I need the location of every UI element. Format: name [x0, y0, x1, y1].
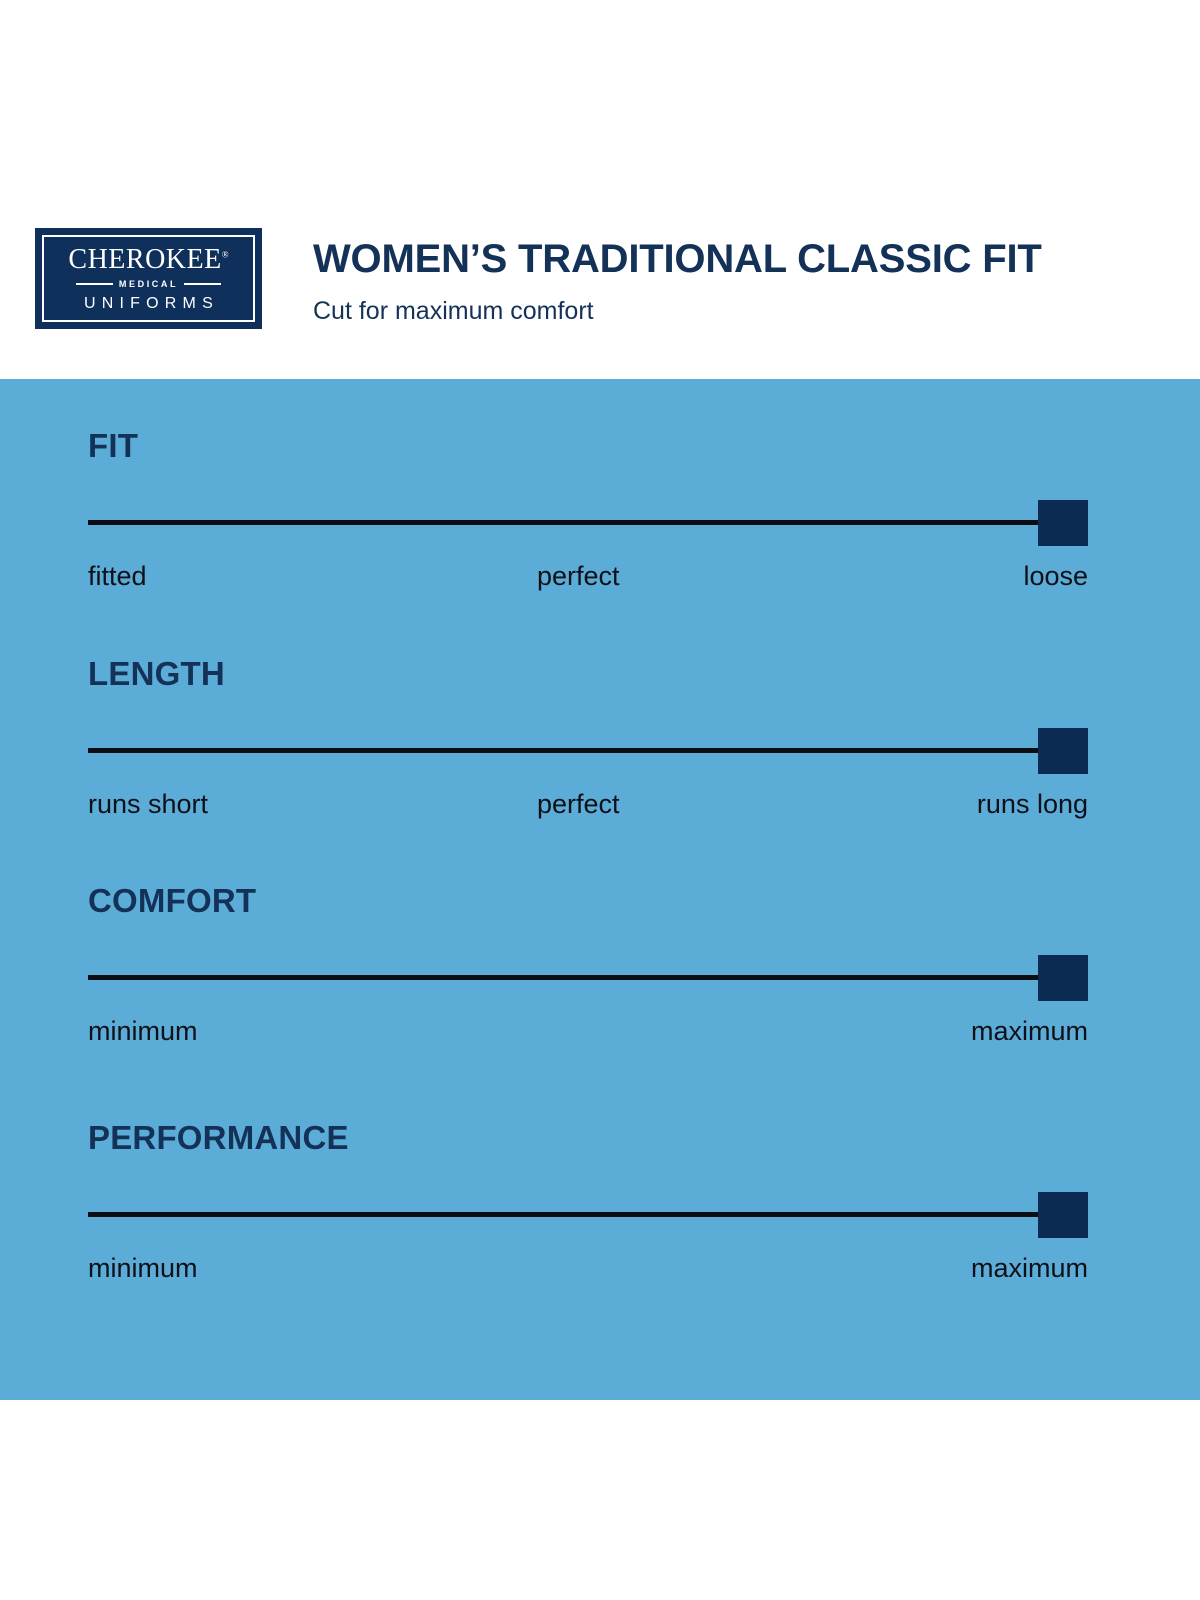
logo-brand-name: CHEROKEE® — [68, 246, 228, 274]
track-line-performance — [88, 1212, 1044, 1217]
scale-label-left-fit: fitted — [88, 558, 147, 594]
logo-medical-text: MEDICAL — [119, 279, 178, 289]
scale-performance: PERFORMANCE minimum maximum — [88, 1121, 1088, 1290]
fit-guide-page: CHEROKEE® MEDICAL UNIFORMS WOMEN’S TRADI… — [0, 0, 1200, 1600]
slider-marker-fit[interactable] — [1038, 500, 1088, 546]
scale-title-comfort: COMFORT — [88, 884, 1088, 917]
slider-marker-comfort[interactable] — [1038, 955, 1088, 1001]
scale-label-right-length: runs long — [977, 786, 1088, 822]
logo-uniforms-text: UNIFORMS — [78, 295, 219, 313]
scale-labels-fit: fitted perfect loose — [88, 558, 1088, 598]
slider-marker-length[interactable] — [1038, 728, 1088, 774]
scale-title-performance: PERFORMANCE — [88, 1121, 1088, 1154]
slider-track-length[interactable] — [88, 728, 1088, 774]
slider-track-performance[interactable] — [88, 1192, 1088, 1238]
logo-inner-frame: CHEROKEE® MEDICAL UNIFORMS — [42, 235, 255, 322]
scale-title-length: LENGTH — [88, 657, 1088, 690]
scales-panel: FIT fitted perfect loose LENGTH runs sho… — [0, 379, 1200, 1400]
scale-labels-length: runs short perfect runs long — [88, 786, 1088, 826]
logo-brand-word: CHEROKEE — [68, 244, 221, 275]
scale-label-left-comfort: minimum — [88, 1013, 198, 1049]
scale-label-mid-fit: perfect — [537, 558, 620, 594]
scale-labels-performance: minimum maximum — [88, 1250, 1088, 1290]
scale-label-right-performance: maximum — [971, 1250, 1088, 1286]
scale-label-right-fit: loose — [1023, 558, 1088, 594]
scale-label-right-comfort: maximum — [971, 1013, 1088, 1049]
scale-label-left-length: runs short — [88, 786, 208, 822]
registered-mark-icon: ® — [222, 250, 229, 260]
scale-fit: FIT fitted perfect loose — [88, 429, 1088, 598]
scale-label-mid-length: perfect — [537, 786, 620, 822]
track-line-comfort — [88, 975, 1044, 980]
scale-title-fit: FIT — [88, 429, 1088, 462]
logo-rule-right-icon — [184, 283, 221, 285]
logo-rule-left-icon — [76, 283, 113, 285]
slider-track-fit[interactable] — [88, 500, 1088, 546]
header: CHEROKEE® MEDICAL UNIFORMS WOMEN’S TRADI… — [0, 0, 1200, 379]
logo-medical-row: MEDICAL — [76, 279, 221, 289]
cherokee-logo: CHEROKEE® MEDICAL UNIFORMS — [35, 228, 262, 329]
scale-labels-comfort: minimum maximum — [88, 1013, 1088, 1053]
scale-label-left-performance: minimum — [88, 1250, 198, 1286]
page-title: WOMEN’S TRADITIONAL CLASSIC FIT — [313, 238, 1042, 280]
scale-comfort: COMFORT minimum maximum — [88, 884, 1088, 1053]
slider-marker-performance[interactable] — [1038, 1192, 1088, 1238]
track-line-length — [88, 748, 1044, 753]
slider-track-comfort[interactable] — [88, 955, 1088, 1001]
scale-length: LENGTH runs short perfect runs long — [88, 657, 1088, 826]
track-line-fit — [88, 520, 1044, 525]
page-subtitle: Cut for maximum comfort — [313, 296, 594, 326]
